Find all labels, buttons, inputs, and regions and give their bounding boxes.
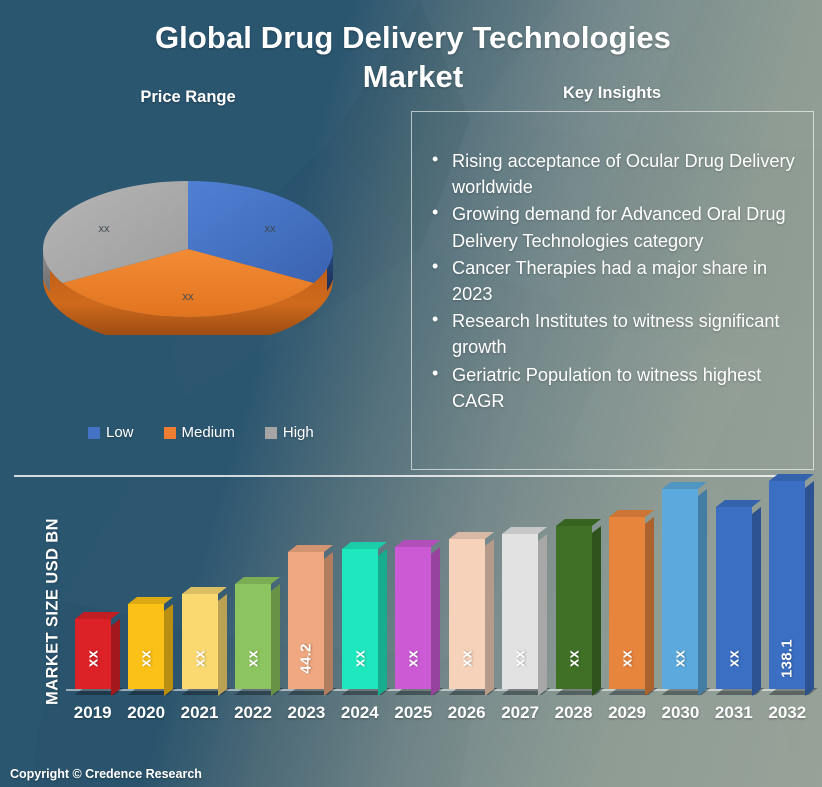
bar-top-face	[556, 519, 601, 526]
bar-2019[interactable]: xx	[75, 619, 111, 689]
bar-2028[interactable]: xx	[556, 526, 592, 689]
bar-value-label: xx	[619, 650, 636, 667]
bar-chart-y-axis-label: MARKET SIZE USD BN	[44, 497, 63, 727]
legend-item-medium[interactable]: Medium	[164, 424, 235, 441]
infographic-canvas: Global Drug Delivery Technologies Market…	[0, 0, 822, 787]
bar-top-face	[662, 482, 707, 489]
pie-label-medium: xx	[183, 291, 195, 303]
bar-side-face	[805, 481, 814, 696]
bar-category-label-2029: 2029	[603, 703, 651, 723]
bar-top-face	[395, 540, 440, 547]
key-insights-section-label: Key Insights	[500, 84, 724, 103]
bar-2026[interactable]: xx	[449, 539, 485, 689]
bar-front-face: xx	[395, 547, 431, 689]
bar-value-label: xx	[672, 650, 689, 667]
price-range-section-label: Price Range	[132, 88, 244, 107]
bar-category-label-2032: 2032	[763, 703, 811, 723]
bar-category-label-2023: 2023	[282, 703, 330, 723]
bar-side-face	[378, 549, 387, 696]
bar-top-face	[128, 597, 173, 604]
bar-side-face	[111, 619, 120, 696]
bar-value-label: xx	[191, 650, 208, 667]
bar-category-label-2022: 2022	[229, 703, 277, 723]
bar-category-label-2019: 2019	[69, 703, 117, 723]
bar-side-face	[164, 604, 173, 696]
bar-value-label: xx	[405, 650, 422, 667]
bar-front-face: xx	[609, 517, 645, 689]
bar-2021[interactable]: xx	[182, 594, 218, 689]
footer-copyright: Copyright © Credence Research	[10, 767, 202, 781]
legend-label-high: High	[283, 424, 314, 441]
pie-legend: Low Medium High	[88, 424, 358, 441]
bar-front-face: xx	[449, 539, 485, 689]
bar-chart-plot-area: xx2019xx2020xx2021xx202244.22023xx2024xx…	[66, 484, 814, 727]
key-insight-item: Rising acceptance of Ocular Drug Deliver…	[430, 148, 803, 200]
pie-label-high: xx	[99, 223, 111, 235]
bar-value-label: xx	[84, 650, 101, 667]
bar-top-face	[182, 587, 227, 594]
bar-top-face	[716, 500, 761, 507]
bar-top-face	[288, 545, 333, 552]
bar-2032[interactable]: 138.1	[769, 481, 805, 689]
bar-value-label: xx	[245, 650, 262, 667]
bar-value-label: 138.1	[779, 639, 796, 678]
bar-top-face	[342, 542, 387, 549]
bar-value-label: xx	[512, 650, 529, 667]
bar-value-label: xx	[458, 650, 475, 667]
bar-side-face	[592, 526, 601, 696]
bar-value-label: xx	[725, 650, 742, 667]
legend-label-medium: Medium	[182, 424, 235, 441]
bar-top-face	[609, 510, 654, 517]
pie-label-low: xx	[265, 223, 277, 235]
bar-2031[interactable]: xx	[716, 507, 752, 689]
key-insight-item: Growing demand for Advanced Oral Drug De…	[430, 201, 803, 253]
bar-front-face: xx	[662, 489, 698, 689]
bar-2029[interactable]: xx	[609, 517, 645, 689]
bar-top-face	[769, 474, 814, 481]
bar-2023[interactable]: 44.2	[288, 552, 324, 689]
price-range-pie-chart: xx xx xx	[38, 160, 338, 335]
bar-category-label-2025: 2025	[389, 703, 437, 723]
bar-top-face	[235, 577, 280, 584]
legend-item-high[interactable]: High	[265, 424, 314, 441]
bar-front-face: xx	[128, 604, 164, 689]
bar-side-face	[645, 517, 654, 696]
bar-side-face	[324, 552, 333, 696]
bar-front-face: 138.1	[769, 481, 805, 689]
bar-top-face	[75, 612, 120, 619]
legend-swatch-low	[88, 427, 100, 439]
bar-category-label-2030: 2030	[656, 703, 704, 723]
bar-top-face	[502, 527, 547, 534]
legend-swatch-high	[265, 427, 277, 439]
bar-category-label-2021: 2021	[176, 703, 224, 723]
bar-side-face	[271, 584, 280, 696]
bar-front-face: xx	[716, 507, 752, 689]
bar-2025[interactable]: xx	[395, 547, 431, 689]
bar-2024[interactable]: xx	[342, 549, 378, 689]
key-insights-list: Rising acceptance of Ocular Drug Deliver…	[412, 112, 813, 414]
bar-side-face	[218, 594, 227, 696]
bar-category-label-2028: 2028	[550, 703, 598, 723]
bar-side-face	[538, 534, 547, 696]
key-insights-panel: Rising acceptance of Ocular Drug Deliver…	[411, 111, 814, 470]
bar-2027[interactable]: xx	[502, 534, 538, 689]
section-divider	[14, 475, 808, 477]
legend-item-low[interactable]: Low	[88, 424, 134, 441]
bar-2022[interactable]: xx	[235, 584, 271, 689]
bar-category-label-2031: 2031	[710, 703, 758, 723]
bar-value-label: xx	[138, 650, 155, 667]
bar-front-face: xx	[182, 594, 218, 689]
bar-front-face: xx	[342, 549, 378, 689]
bar-side-face	[431, 547, 440, 696]
bar-category-label-2024: 2024	[336, 703, 384, 723]
key-insight-item: Geriatric Population to witness highest …	[430, 362, 803, 414]
bar-category-label-2027: 2027	[496, 703, 544, 723]
pie-chart-svg: xx xx xx	[38, 160, 338, 335]
bar-side-face	[752, 507, 761, 696]
bar-category-label-2026: 2026	[443, 703, 491, 723]
bar-value-label: xx	[565, 650, 582, 667]
bar-front-face: 44.2	[288, 552, 324, 689]
bar-side-face	[698, 489, 707, 696]
legend-swatch-medium	[164, 427, 176, 439]
bar-top-face	[449, 532, 494, 539]
key-insight-item: Cancer Therapies had a major share in 20…	[430, 255, 803, 307]
bar-front-face: xx	[556, 526, 592, 689]
bar-2020[interactable]: xx	[128, 604, 164, 689]
bar-value-label: 44.2	[298, 643, 315, 673]
key-insight-item: Research Institutes to witness significa…	[430, 308, 803, 360]
bar-side-face	[485, 539, 494, 696]
bar-category-label-2020: 2020	[122, 703, 170, 723]
market-size-bar-chart: MARKET SIZE USD BN xx2019xx2020xx2021xx2…	[0, 478, 822, 763]
legend-label-low: Low	[106, 424, 134, 441]
bar-front-face: xx	[75, 619, 111, 689]
bar-value-label: xx	[351, 650, 368, 667]
bar-front-face: xx	[502, 534, 538, 689]
bar-front-face: xx	[235, 584, 271, 689]
bar-2030[interactable]: xx	[662, 489, 698, 689]
